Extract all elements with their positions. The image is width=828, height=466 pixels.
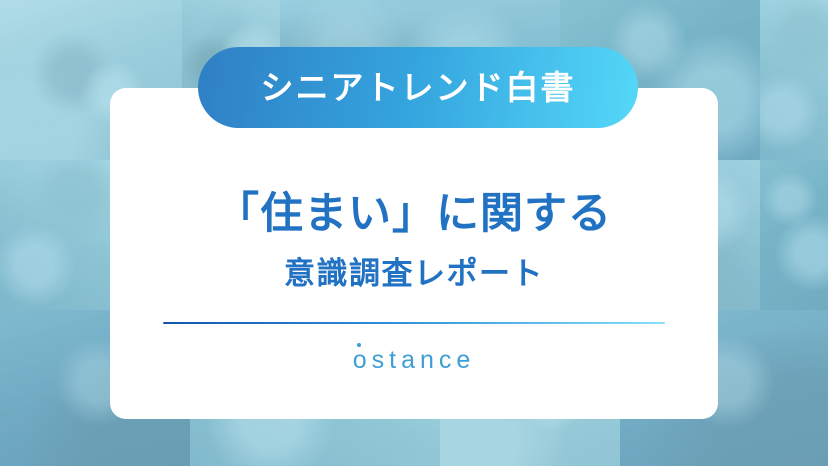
report-cover-canvas: 「住まい」に関する 意識調査レポート ostance シニアトレンド白書 [0, 0, 828, 466]
brand-logo-text: ostance [353, 346, 476, 374]
divider [163, 322, 665, 324]
content-card: 「住まい」に関する 意識調査レポート ostance [110, 88, 718, 419]
series-badge-label: シニアトレンド白書 [261, 71, 576, 104]
series-badge: シニアトレンド白書 [198, 47, 638, 128]
logo-dot-icon [357, 343, 361, 347]
brand-logo: ostance [353, 348, 476, 373]
page-subtitle: 意識調査レポート [284, 258, 544, 289]
page-title: 「住まい」に関する [216, 193, 612, 236]
content-card-body: 「住まい」に関する 意識調査レポート ostance [110, 88, 718, 419]
